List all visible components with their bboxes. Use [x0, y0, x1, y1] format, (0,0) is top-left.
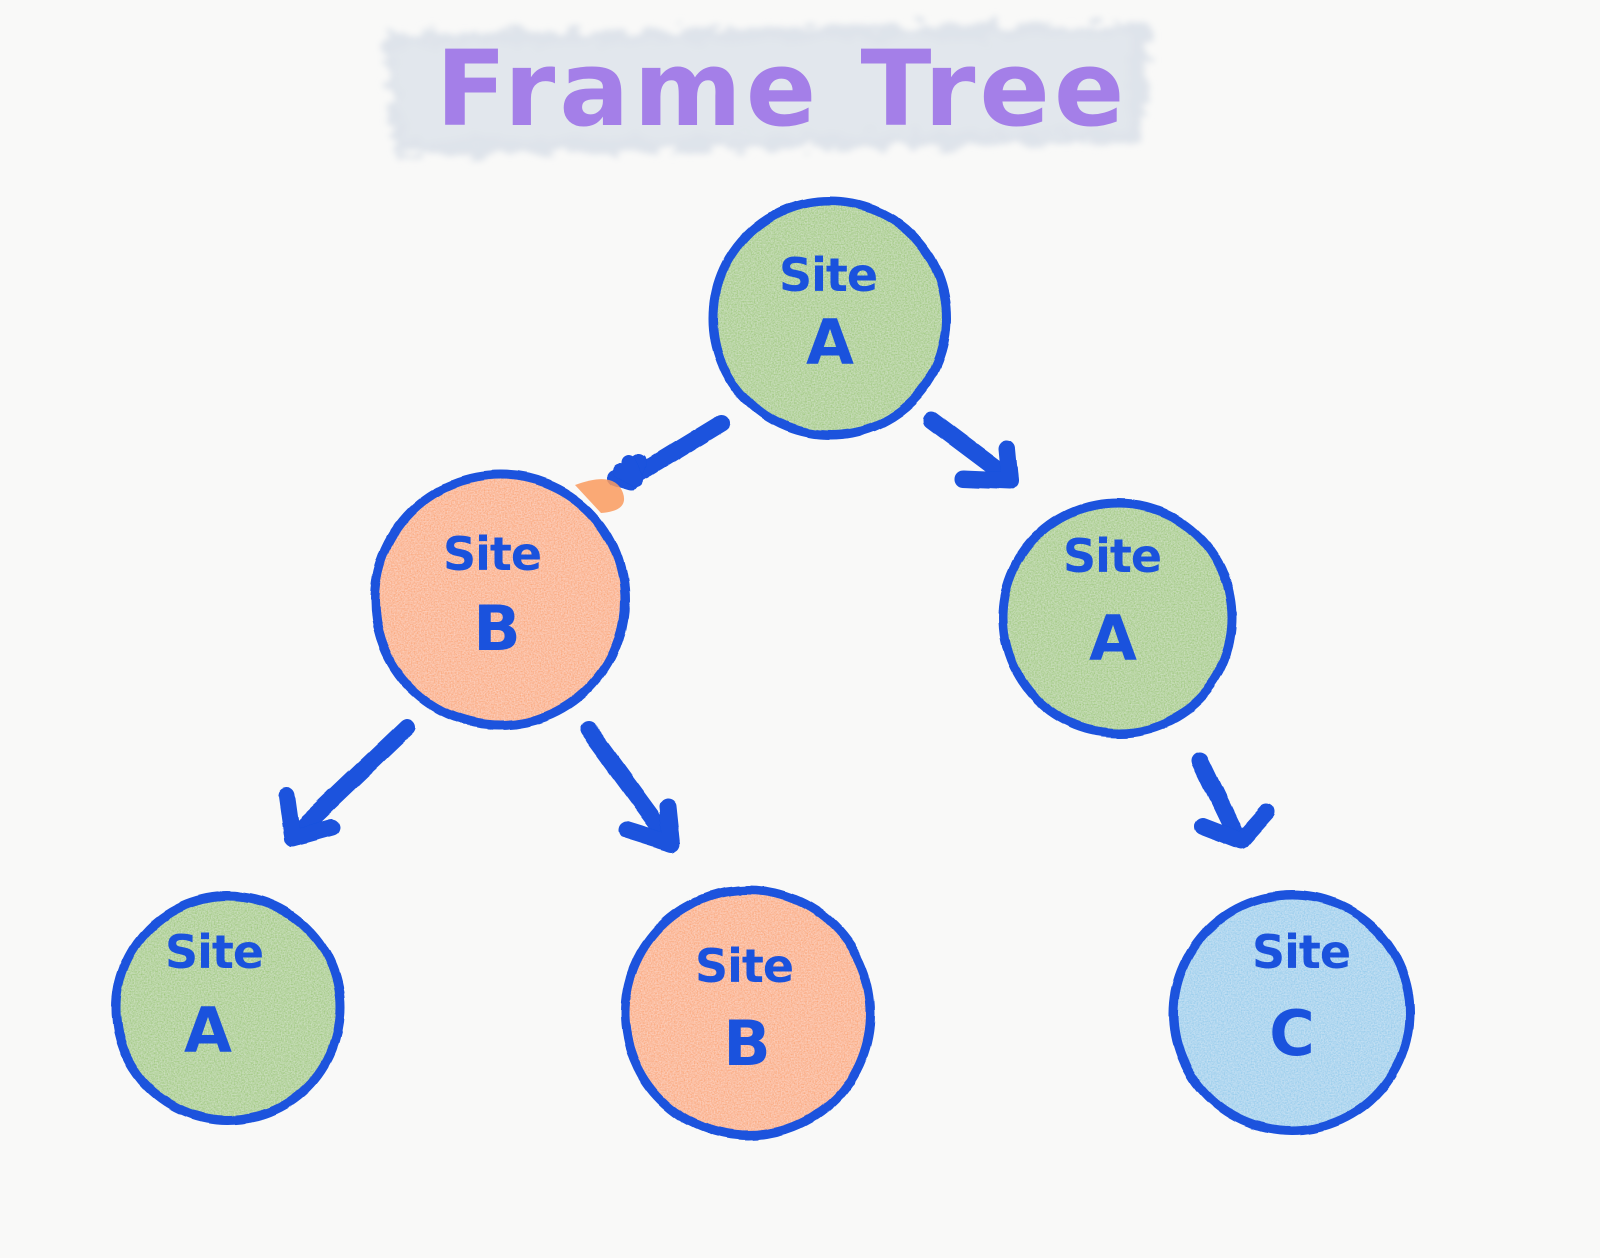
node-right-site-a[interactable]: Site A	[1003, 503, 1233, 733]
node-left-right-site-b[interactable]: Site B	[625, 890, 871, 1136]
node-label-letter: A	[1089, 602, 1137, 675]
node-root-site-a[interactable]: Site A	[713, 201, 947, 435]
node-label-site: Site	[165, 925, 263, 979]
title-block: Frame Tree	[384, 22, 1152, 156]
node-group: Site A Site B Site A Si	[116, 201, 1410, 1136]
node-label-letter: B	[723, 1007, 770, 1080]
node-label-site: Site	[1063, 529, 1161, 583]
edge-right-to-rightchild	[1200, 761, 1267, 841]
node-left-left-site-a[interactable]: Site A	[116, 896, 340, 1120]
edge-root-to-left	[615, 423, 722, 482]
edge-left-to-leftright	[588, 730, 672, 844]
node-label-letter: A	[184, 994, 232, 1067]
node-label-site: Site	[695, 939, 793, 993]
node-label-letter: B	[473, 592, 520, 665]
edge-root-to-right	[931, 420, 1010, 481]
node-label-letter: C	[1269, 997, 1315, 1070]
diagram-canvas: Frame Tree	[0, 0, 1600, 1258]
page-title: Frame Tree	[436, 28, 1129, 150]
node-label-site: Site	[443, 527, 541, 581]
node-label-site: Site	[779, 248, 877, 302]
node-left-site-b[interactable]: Site B	[375, 475, 625, 725]
edge-left-to-leftleft	[286, 728, 407, 838]
node-label-letter: A	[806, 306, 854, 379]
node-label-site: Site	[1252, 925, 1350, 979]
frame-tree-svg: Frame Tree	[0, 0, 1600, 1258]
node-right-child-site-c[interactable]: Site C	[1174, 895, 1410, 1131]
